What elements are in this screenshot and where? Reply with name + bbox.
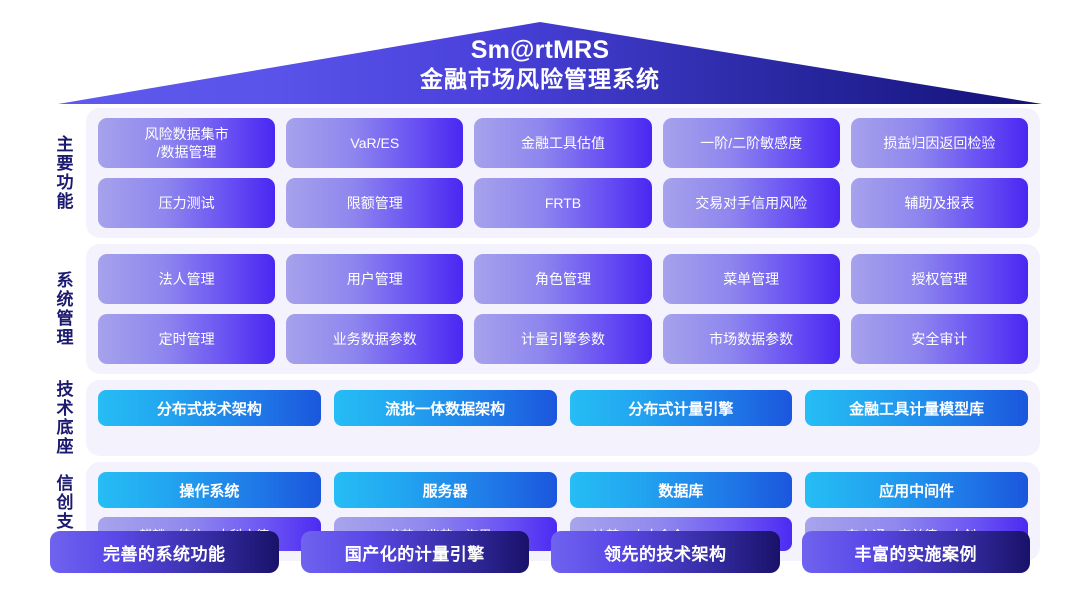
feature-card[interactable]: 压力测试 <box>98 178 275 228</box>
tech-card[interactable]: 分布式技术架构 <box>98 390 321 426</box>
xinchuang-title[interactable]: 操作系统 <box>98 472 321 508</box>
panel-tech-foundation: 分布式技术架构 流批一体数据架构 分布式计量引擎 金融工具计量模型库 <box>86 380 1040 456</box>
feature-card[interactable]: VaR/ES <box>286 118 463 168</box>
xinchuang-title[interactable]: 应用中间件 <box>805 472 1028 508</box>
highlight-button[interactable]: 完善的系统功能 <box>50 531 279 573</box>
feature-card[interactable]: 业务数据参数 <box>286 314 463 364</box>
grid-row: 分布式技术架构 流批一体数据架构 分布式计量引擎 金融工具计量模型库 <box>98 390 1028 426</box>
feature-card[interactable]: 菜单管理 <box>663 254 840 304</box>
feature-card[interactable]: 一阶/二阶敏感度 <box>663 118 840 168</box>
grid-row: 压力测试 限额管理 FRTB 交易对手信用风险 辅助及报表 <box>98 178 1028 228</box>
feature-card[interactable]: 金融工具估值 <box>474 118 651 168</box>
band-label-text: 技术底座 <box>55 380 72 456</box>
grid-row: 风险数据集市 /数据管理 VaR/ES 金融工具估值 一阶/二阶敏感度 损益归因… <box>98 118 1028 168</box>
band-main-functions: 主要功能 风险数据集市 /数据管理 VaR/ES 金融工具估值 一阶/二阶敏感度… <box>0 108 1080 238</box>
tech-card[interactable]: 流批一体数据架构 <box>334 390 557 426</box>
feature-card[interactable]: 定时管理 <box>98 314 275 364</box>
feature-card[interactable]: 安全审计 <box>851 314 1028 364</box>
feature-card[interactable]: 法人管理 <box>98 254 275 304</box>
roof-triangle-shape <box>0 0 1080 108</box>
grid-row: 定时管理 业务数据参数 计量引擎参数 市场数据参数 安全审计 <box>98 314 1028 364</box>
band-label-text: 主要功能 <box>55 135 72 211</box>
tech-card[interactable]: 金融工具计量模型库 <box>805 390 1028 426</box>
highlight-button[interactable]: 国产化的计量引擎 <box>301 531 530 573</box>
feature-card[interactable]: FRTB <box>474 178 651 228</box>
band-label-system-management: 系统管理 <box>40 244 86 374</box>
feature-card[interactable]: 市场数据参数 <box>663 314 840 364</box>
highlight-button[interactable]: 领先的技术架构 <box>551 531 780 573</box>
feature-card[interactable]: 限额管理 <box>286 178 463 228</box>
feature-card[interactable]: 角色管理 <box>474 254 651 304</box>
band-tech-foundation: 技术底座 分布式技术架构 流批一体数据架构 分布式计量引擎 金融工具计量模型库 <box>0 380 1080 456</box>
grid-row: 法人管理 用户管理 角色管理 菜单管理 授权管理 <box>98 254 1028 304</box>
highlight-button[interactable]: 丰富的实施案例 <box>802 531 1031 573</box>
feature-card[interactable]: 风险数据集市 /数据管理 <box>98 118 275 168</box>
feature-card[interactable]: 辅助及报表 <box>851 178 1028 228</box>
feature-card[interactable]: 交易对手信用风险 <box>663 178 840 228</box>
xinchuang-title[interactable]: 数据库 <box>570 472 793 508</box>
architecture-stack: 主要功能 风险数据集市 /数据管理 VaR/ES 金融工具估值 一阶/二阶敏感度… <box>0 108 1080 567</box>
xinchuang-title[interactable]: 服务器 <box>334 472 557 508</box>
panel-system-management: 法人管理 用户管理 角色管理 菜单管理 授权管理 定时管理 业务数据参数 计量引… <box>86 244 1040 374</box>
band-system-management: 系统管理 法人管理 用户管理 角色管理 菜单管理 授权管理 定时管理 业务数据参… <box>0 244 1080 374</box>
band-label-tech-foundation: 技术底座 <box>40 380 86 456</box>
band-label-text: 系统管理 <box>55 271 72 347</box>
footer-highlights: 完善的系统功能 国产化的计量引擎 领先的技术架构 丰富的实施案例 <box>0 531 1080 573</box>
feature-card[interactable]: 用户管理 <box>286 254 463 304</box>
panel-main-functions: 风险数据集市 /数据管理 VaR/ES 金融工具估值 一阶/二阶敏感度 损益归因… <box>86 108 1040 238</box>
feature-card[interactable]: 计量引擎参数 <box>474 314 651 364</box>
tech-card[interactable]: 分布式计量引擎 <box>570 390 793 426</box>
header-roof: Sm@rtMRS 金融市场风险管理系统 <box>0 0 1080 108</box>
feature-card[interactable]: 损益归因返回检验 <box>851 118 1028 168</box>
feature-card[interactable]: 授权管理 <box>851 254 1028 304</box>
band-label-main-functions: 主要功能 <box>40 108 86 238</box>
